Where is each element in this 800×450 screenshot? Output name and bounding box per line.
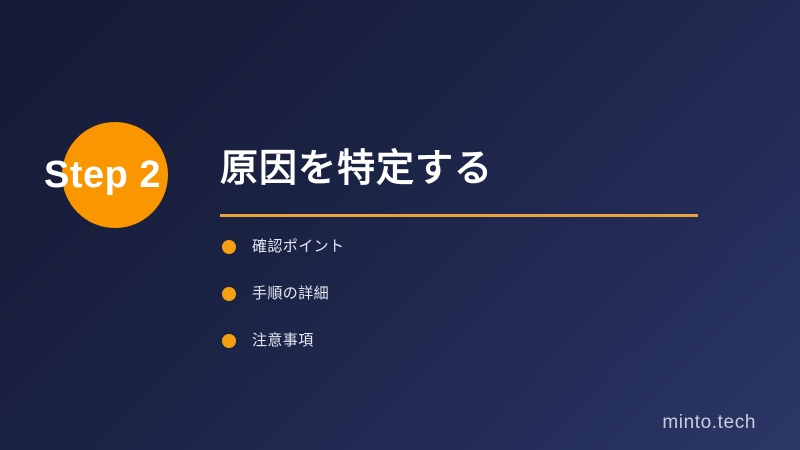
step-badge: Step 2 bbox=[0, 110, 220, 240]
list-item: 注意事項 bbox=[222, 327, 702, 355]
list-item-label: 確認ポイント bbox=[252, 237, 344, 257]
bullet-dot-icon bbox=[222, 287, 236, 301]
title-underline-rule bbox=[220, 214, 698, 217]
list-item: 確認ポイント bbox=[222, 233, 702, 261]
bullet-dot-icon bbox=[222, 334, 236, 348]
title-block: 原因を特定する bbox=[220, 144, 780, 217]
footer-brand: minto.tech bbox=[662, 412, 756, 434]
slide-title: 原因を特定する bbox=[220, 144, 780, 194]
list-item-label: 手順の詳細 bbox=[252, 284, 329, 304]
bullet-list: 確認ポイント 手順の詳細 注意事項 bbox=[222, 233, 702, 374]
presentation-slide: Step 2 原因を特定する 確認ポイント 手順の詳細 注意事項 minto.t… bbox=[0, 0, 800, 450]
list-item-label: 注意事項 bbox=[252, 331, 314, 351]
bullet-dot-icon bbox=[222, 240, 236, 254]
list-item: 手順の詳細 bbox=[222, 280, 702, 308]
step-label: Step 2 bbox=[0, 152, 205, 198]
